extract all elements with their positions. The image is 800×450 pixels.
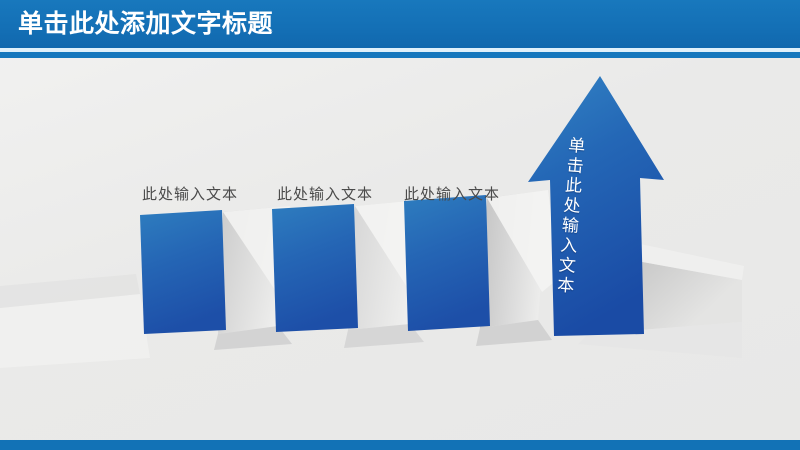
page-title: 单击此处添加文字标题	[18, 9, 273, 39]
bar-label-1: 此处输入文本	[277, 186, 373, 204]
bar-label-0: 此处输入文本	[142, 186, 238, 204]
bar-1[interactable]	[272, 204, 358, 332]
chart-graphic: 此处输入文本 此处输入文本 此处输入文本 单击此处输入文本	[0, 58, 800, 440]
slide-canvas: 单击此处添加文字标题	[0, 0, 800, 450]
arrow-up[interactable]	[528, 76, 664, 336]
bottom-band	[0, 440, 800, 450]
bar-label-2: 此处输入文本	[404, 186, 500, 204]
bars-layer	[0, 58, 800, 440]
bar-2[interactable]	[404, 195, 490, 331]
bar-0[interactable]	[140, 210, 226, 334]
